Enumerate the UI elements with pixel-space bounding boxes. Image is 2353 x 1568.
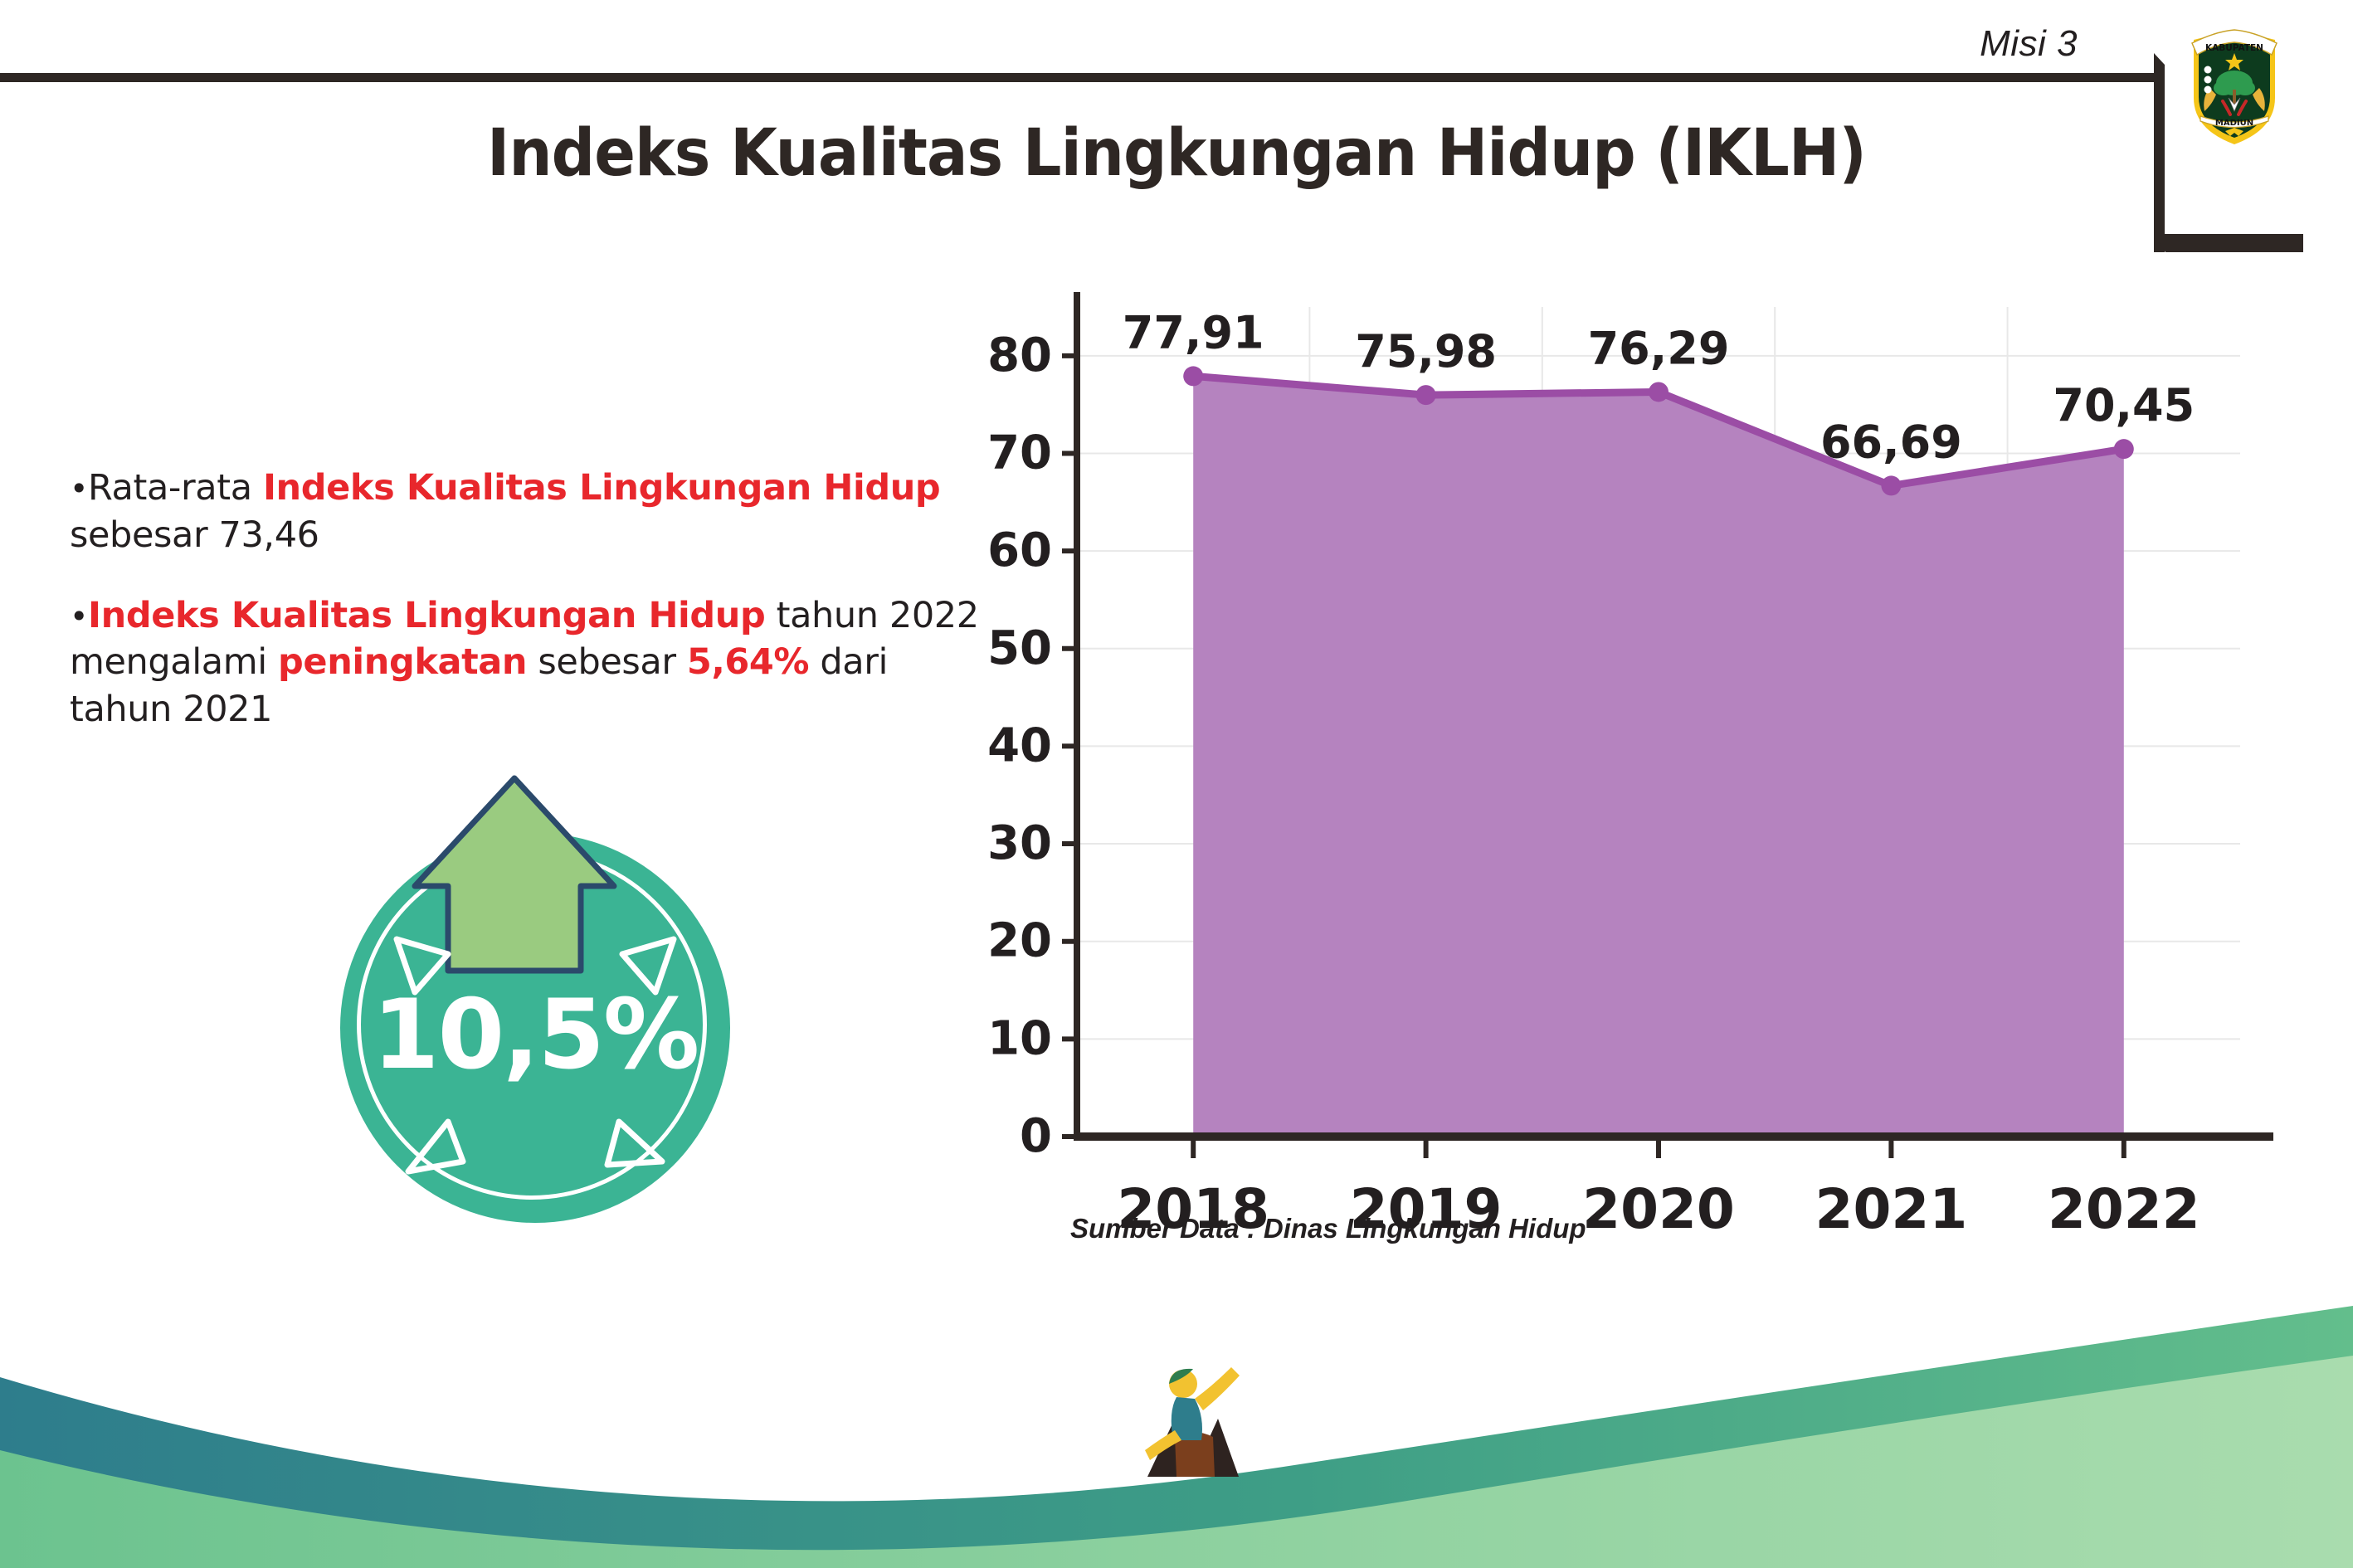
header-rule: [0, 73, 2163, 82]
chart-source-note: Sumber Data : Dinas Lingkungan Hidup: [1070, 1213, 1586, 1244]
chart-y-tick-label: 80: [987, 329, 1052, 382]
chart-y-tick-label: 60: [987, 523, 1052, 577]
list-item: •Rata-rata Indeks Kualitas Lingkungan Hi…: [70, 465, 999, 559]
up-arrow-icon: [322, 747, 753, 1195]
header-bracket-horizontal: [2154, 234, 2303, 252]
bullet-highlight-text: Indeks Kualitas Lingkungan Hidup: [88, 595, 765, 636]
growth-badge: 10,5%: [322, 747, 753, 1195]
chart-y-tick-label: 0: [1020, 1109, 1052, 1163]
bullet-marker: •: [70, 470, 88, 507]
bullet-text: sebesar: [527, 641, 687, 683]
mission-label: Misi 3: [1980, 23, 2078, 65]
infographic-page: Misi 3 KABUPATEN MADIUN Indeks Kualitas …: [0, 0, 2353, 1568]
chart-y-tick-label: 20: [987, 914, 1052, 968]
chart-y-tick-label: 10: [987, 1011, 1052, 1065]
chart-data-point: [2114, 439, 2134, 459]
svg-text:KABUPATEN: KABUPATEN: [2205, 43, 2263, 53]
chart-value-label: 70,45: [2053, 379, 2195, 431]
chart-value-label: 66,69: [1820, 416, 1962, 468]
media-infografis-logo-icon: [1143, 1361, 1243, 1485]
chart-canvas: 77,9175,9876,2966,6970,45010203040506070…: [979, 274, 2273, 1269]
bullet-highlight-text: 5,64%: [687, 641, 809, 683]
chart-value-label: 76,29: [1588, 322, 1730, 374]
bullet-text: sebesar 73,46: [70, 514, 319, 556]
bullet-highlight-text: peningkatan: [278, 641, 527, 683]
chart-x-tick-label: 2022: [2048, 1177, 2200, 1241]
chart-value-label: 75,98: [1355, 325, 1497, 377]
chart-y-tick-label: 30: [987, 816, 1052, 870]
chart-data-point: [1416, 385, 1436, 405]
bullet-marker: •: [70, 598, 88, 635]
bullet-highlight-text: Indeks Kualitas Lingkungan Hidup: [263, 467, 940, 509]
iklh-area-chart: 77,9175,9876,2966,6970,45010203040506070…: [979, 274, 2273, 1269]
chart-data-point: [1881, 475, 1901, 495]
chart-data-point: [1183, 366, 1203, 386]
chart-data-point: [1649, 382, 1669, 402]
list-item: •Indeks Kualitas Lingkungan Hidup tahun …: [70, 592, 999, 733]
bullet-list: •Rata-rata Indeks Kualitas Lingkungan Hi…: [70, 465, 999, 767]
chart-x-tick-label: 2020: [1582, 1177, 1735, 1241]
bullet-text: Rata-rata: [88, 467, 263, 509]
chart-x-tick-label: 2021: [1815, 1177, 1968, 1241]
chart-area-fill: [1193, 376, 2124, 1137]
page-title: Indeks Kualitas Lingkungan Hidup (IKLH): [71, 116, 2282, 191]
badge-value: 10,5%: [340, 979, 730, 1091]
chart-y-tick-label: 50: [987, 621, 1052, 675]
chart-y-tick-label: 70: [987, 426, 1052, 480]
chart-value-label: 77,91: [1123, 306, 1264, 358]
chart-y-tick-label: 40: [987, 718, 1052, 772]
